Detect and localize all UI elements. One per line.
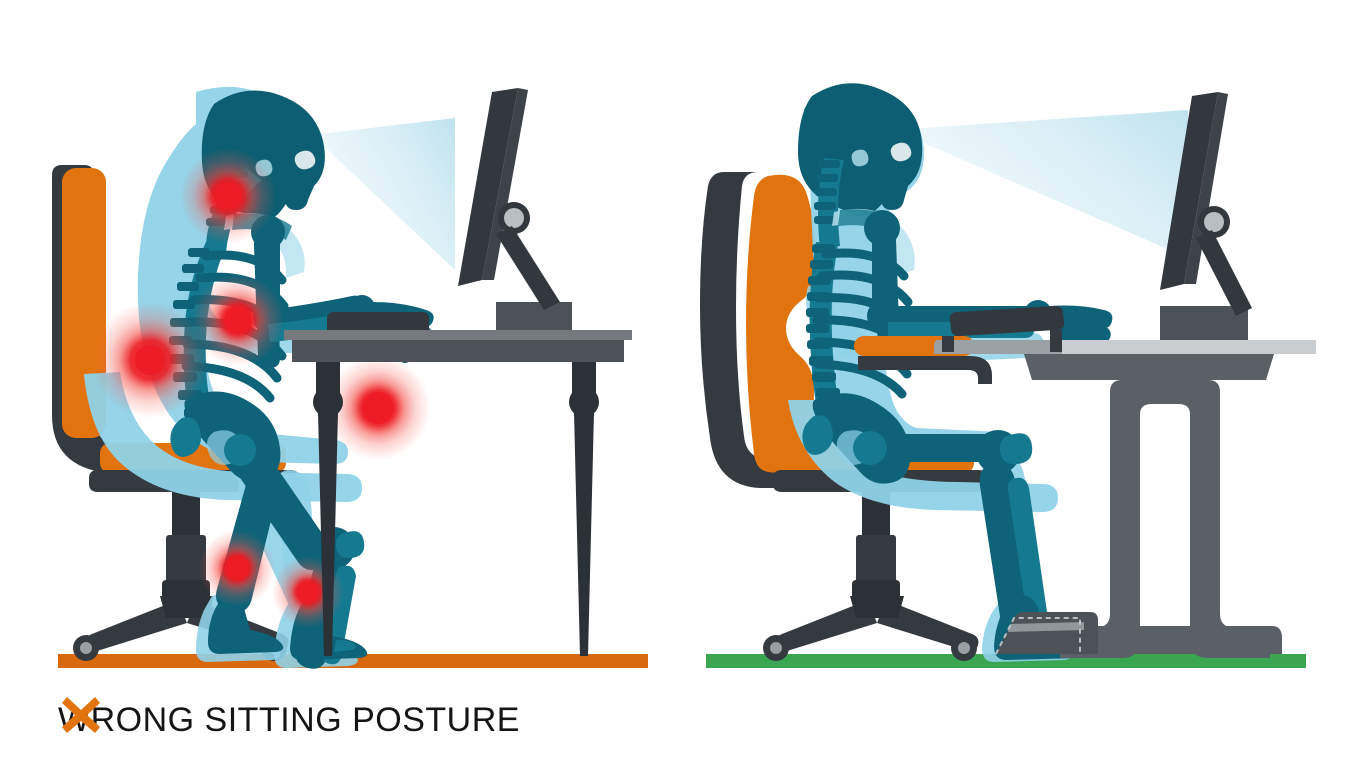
monitor-arm	[496, 226, 560, 310]
pain-point-ankle-front-core	[297, 581, 319, 603]
chair-gas-cylinder-upper	[172, 491, 200, 537]
pain-point-elbow-core	[224, 306, 252, 334]
chair-base-hub	[850, 596, 904, 618]
panel-wrong-posture: WRONG SITTING POSTURE	[0, 0, 676, 776]
infographic-stage: WRONG SITTING POSTURE	[0, 0, 1352, 776]
monitor-pivot-knob-center	[504, 208, 524, 228]
desk-top-surface	[284, 330, 632, 340]
screen-glare-cone	[894, 110, 1188, 258]
panel-correct-posture: CORRECT SITTING POSTURE	[676, 0, 1352, 776]
hip-joint	[853, 431, 887, 465]
chair-caster-right-hub	[958, 642, 970, 654]
patella	[336, 531, 365, 558]
caption-label-wrong: WRONG SITTING POSTURE	[58, 701, 520, 740]
monitor-correct	[1160, 92, 1352, 316]
monitor-stand-base	[496, 302, 572, 330]
skull-eye-socket	[891, 143, 912, 162]
chair-caster-left-hub	[770, 642, 782, 654]
pain-point-lower-back-core	[135, 345, 165, 375]
skull-ear-hole	[852, 150, 869, 167]
hip-joint	[224, 434, 256, 466]
pain-point-neck-core	[214, 182, 242, 210]
screen-glare-cone	[312, 118, 455, 270]
desk-apron	[292, 340, 624, 362]
desk-leg-rear	[569, 362, 599, 656]
desk-pedestal-top	[1024, 354, 1274, 380]
monitor-arm	[1196, 230, 1252, 316]
chair-caster-left-hub	[80, 642, 92, 654]
caption-wrong: WRONG SITTING POSTURE	[58, 692, 520, 748]
monitor-wrong	[458, 88, 560, 310]
skull-eye-socket	[295, 151, 316, 170]
chair-gas-cylinder-lower	[856, 535, 896, 583]
pain-point-ankle-rear-core	[225, 556, 249, 580]
pain-point-knee-core	[362, 392, 394, 424]
monitor-pivot-knob-center	[1204, 212, 1224, 232]
keyboard-flat	[327, 312, 429, 330]
x-mark-icon	[58, 692, 104, 738]
patella	[1000, 433, 1032, 464]
